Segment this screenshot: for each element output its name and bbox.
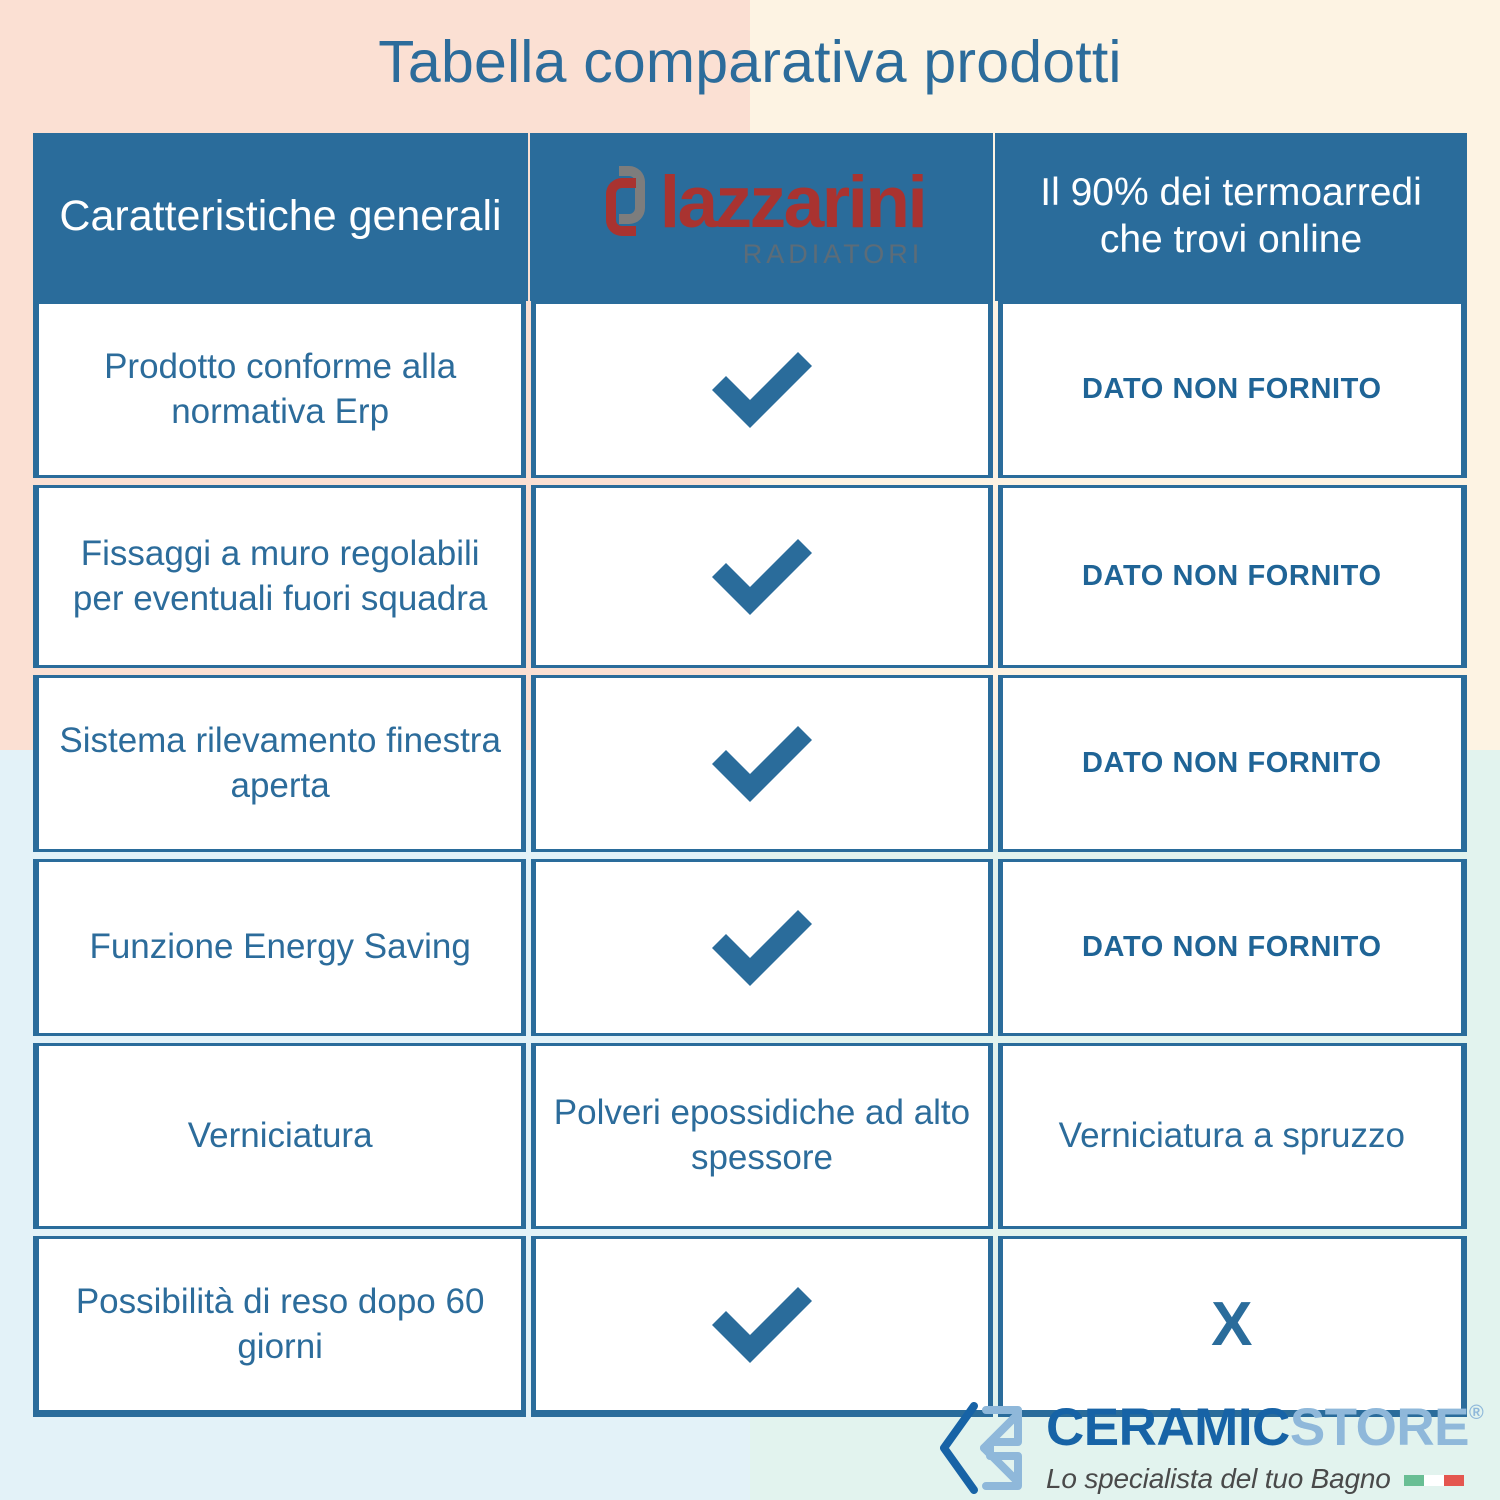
cell-feature: Sistema rilevamento finestra aperta (33, 675, 526, 852)
cell-feature: Possibilità di reso dopo 60 giorni (33, 1236, 526, 1417)
competitor-value: DATO NON FORNITO (1082, 560, 1382, 593)
ceramicstore-wordmark: CERAMIC STORE ® (1046, 1401, 1483, 1454)
cell-competitor: DATO NON FORNITO (998, 485, 1467, 668)
header-cell-brand: lazzarini RADIATORI (530, 133, 993, 301)
feature-label: Verniciatura (176, 1114, 385, 1159)
cell-competitor: Verniciatura a spruzzo (998, 1043, 1467, 1229)
lazzarini-mark-icon (606, 166, 648, 240)
table-row: Prodotto conforme alla normativa ErpDATO… (33, 301, 1467, 478)
cell-brand (531, 301, 992, 478)
cell-feature: Funzione Energy Saving (33, 859, 526, 1036)
cell-brand (531, 675, 992, 852)
ceramicstore-logo[interactable]: CERAMIC STORE ® Lo specialista del tuo B… (940, 1400, 1470, 1495)
lazzarini-wordmark: lazzarini (660, 170, 926, 236)
cell-competitor: DATO NON FORNITO (998, 675, 1467, 852)
cross-mark-icon: X (1211, 1294, 1252, 1356)
table-header-row: Caratteristiche generali lazzarini RADIA… (33, 133, 1467, 301)
feature-label: Prodotto conforme alla normativa Erp (39, 345, 521, 435)
check-mark-icon (706, 531, 818, 623)
cell-brand (531, 1236, 992, 1417)
table-body: Prodotto conforme alla normativa ErpDATO… (33, 301, 1467, 1417)
cell-competitor: X (998, 1236, 1467, 1417)
logo-text-store: STORE (1290, 1401, 1469, 1454)
cell-brand: Polveri epossidiche ad alto spessore (531, 1043, 992, 1229)
cell-feature: Fissaggi a muro regolabili per eventuali… (33, 485, 526, 668)
header-cell-competitor: Il 90% dei termoarredi che trovi online (995, 133, 1467, 301)
feature-label: Funzione Energy Saving (77, 925, 482, 970)
italian-flag-icon (1404, 1475, 1464, 1486)
check-mark-icon (706, 718, 818, 810)
competitor-value: Verniciatura a spruzzo (1045, 1114, 1419, 1159)
lazzarini-logo: lazzarini RADIATORI (606, 166, 926, 268)
brand-value: Polveri epossidiche ad alto spessore (536, 1091, 987, 1181)
registered-trademark-icon: ® (1469, 1403, 1483, 1423)
ceramicstore-tagline: Lo specialista del tuo Bagno (1046, 1463, 1391, 1495)
table-row: VerniciaturaPolveri epossidiche ad alto … (33, 1043, 1467, 1229)
competitor-value: DATO NON FORNITO (1082, 747, 1382, 780)
comparison-table: Caratteristiche generali lazzarini RADIA… (33, 133, 1467, 1378)
cell-competitor: DATO NON FORNITO (998, 301, 1467, 478)
cell-competitor: DATO NON FORNITO (998, 859, 1467, 1036)
check-mark-icon (706, 1279, 818, 1371)
table-row: Fissaggi a muro regolabili per eventuali… (33, 485, 1467, 668)
table-row: Sistema rilevamento finestra apertaDATO … (33, 675, 1467, 852)
check-mark-icon (706, 902, 818, 994)
header-competitor-label: Il 90% dei termoarredi che trovi online (995, 170, 1467, 264)
table-row: Possibilità di reso dopo 60 giorniX (33, 1236, 1467, 1417)
competitor-value: DATO NON FORNITO (1082, 931, 1382, 964)
page-title: Tabella comparativa prodotti (0, 28, 1500, 96)
cell-brand (531, 859, 992, 1036)
logo-text-ceramic: CERAMIC (1046, 1401, 1290, 1454)
cell-brand (531, 485, 992, 668)
lazzarini-subtitle: RADIATORI (743, 241, 924, 268)
feature-label: Sistema rilevamento finestra aperta (39, 719, 521, 809)
table-row: Funzione Energy SavingDATO NON FORNITO (33, 859, 1467, 1036)
header-cell-features: Caratteristiche generali (33, 133, 528, 301)
feature-label: Possibilità di reso dopo 60 giorni (39, 1280, 521, 1370)
cell-feature: Prodotto conforme alla normativa Erp (33, 301, 526, 478)
cell-feature: Verniciatura (33, 1043, 526, 1229)
ceramicstore-mark-icon (940, 1402, 1032, 1494)
competitor-value: DATO NON FORNITO (1082, 373, 1382, 406)
header-features-label: Caratteristiche generali (45, 191, 515, 243)
feature-label: Fissaggi a muro regolabili per eventuali… (39, 532, 521, 622)
check-mark-icon (706, 344, 818, 436)
